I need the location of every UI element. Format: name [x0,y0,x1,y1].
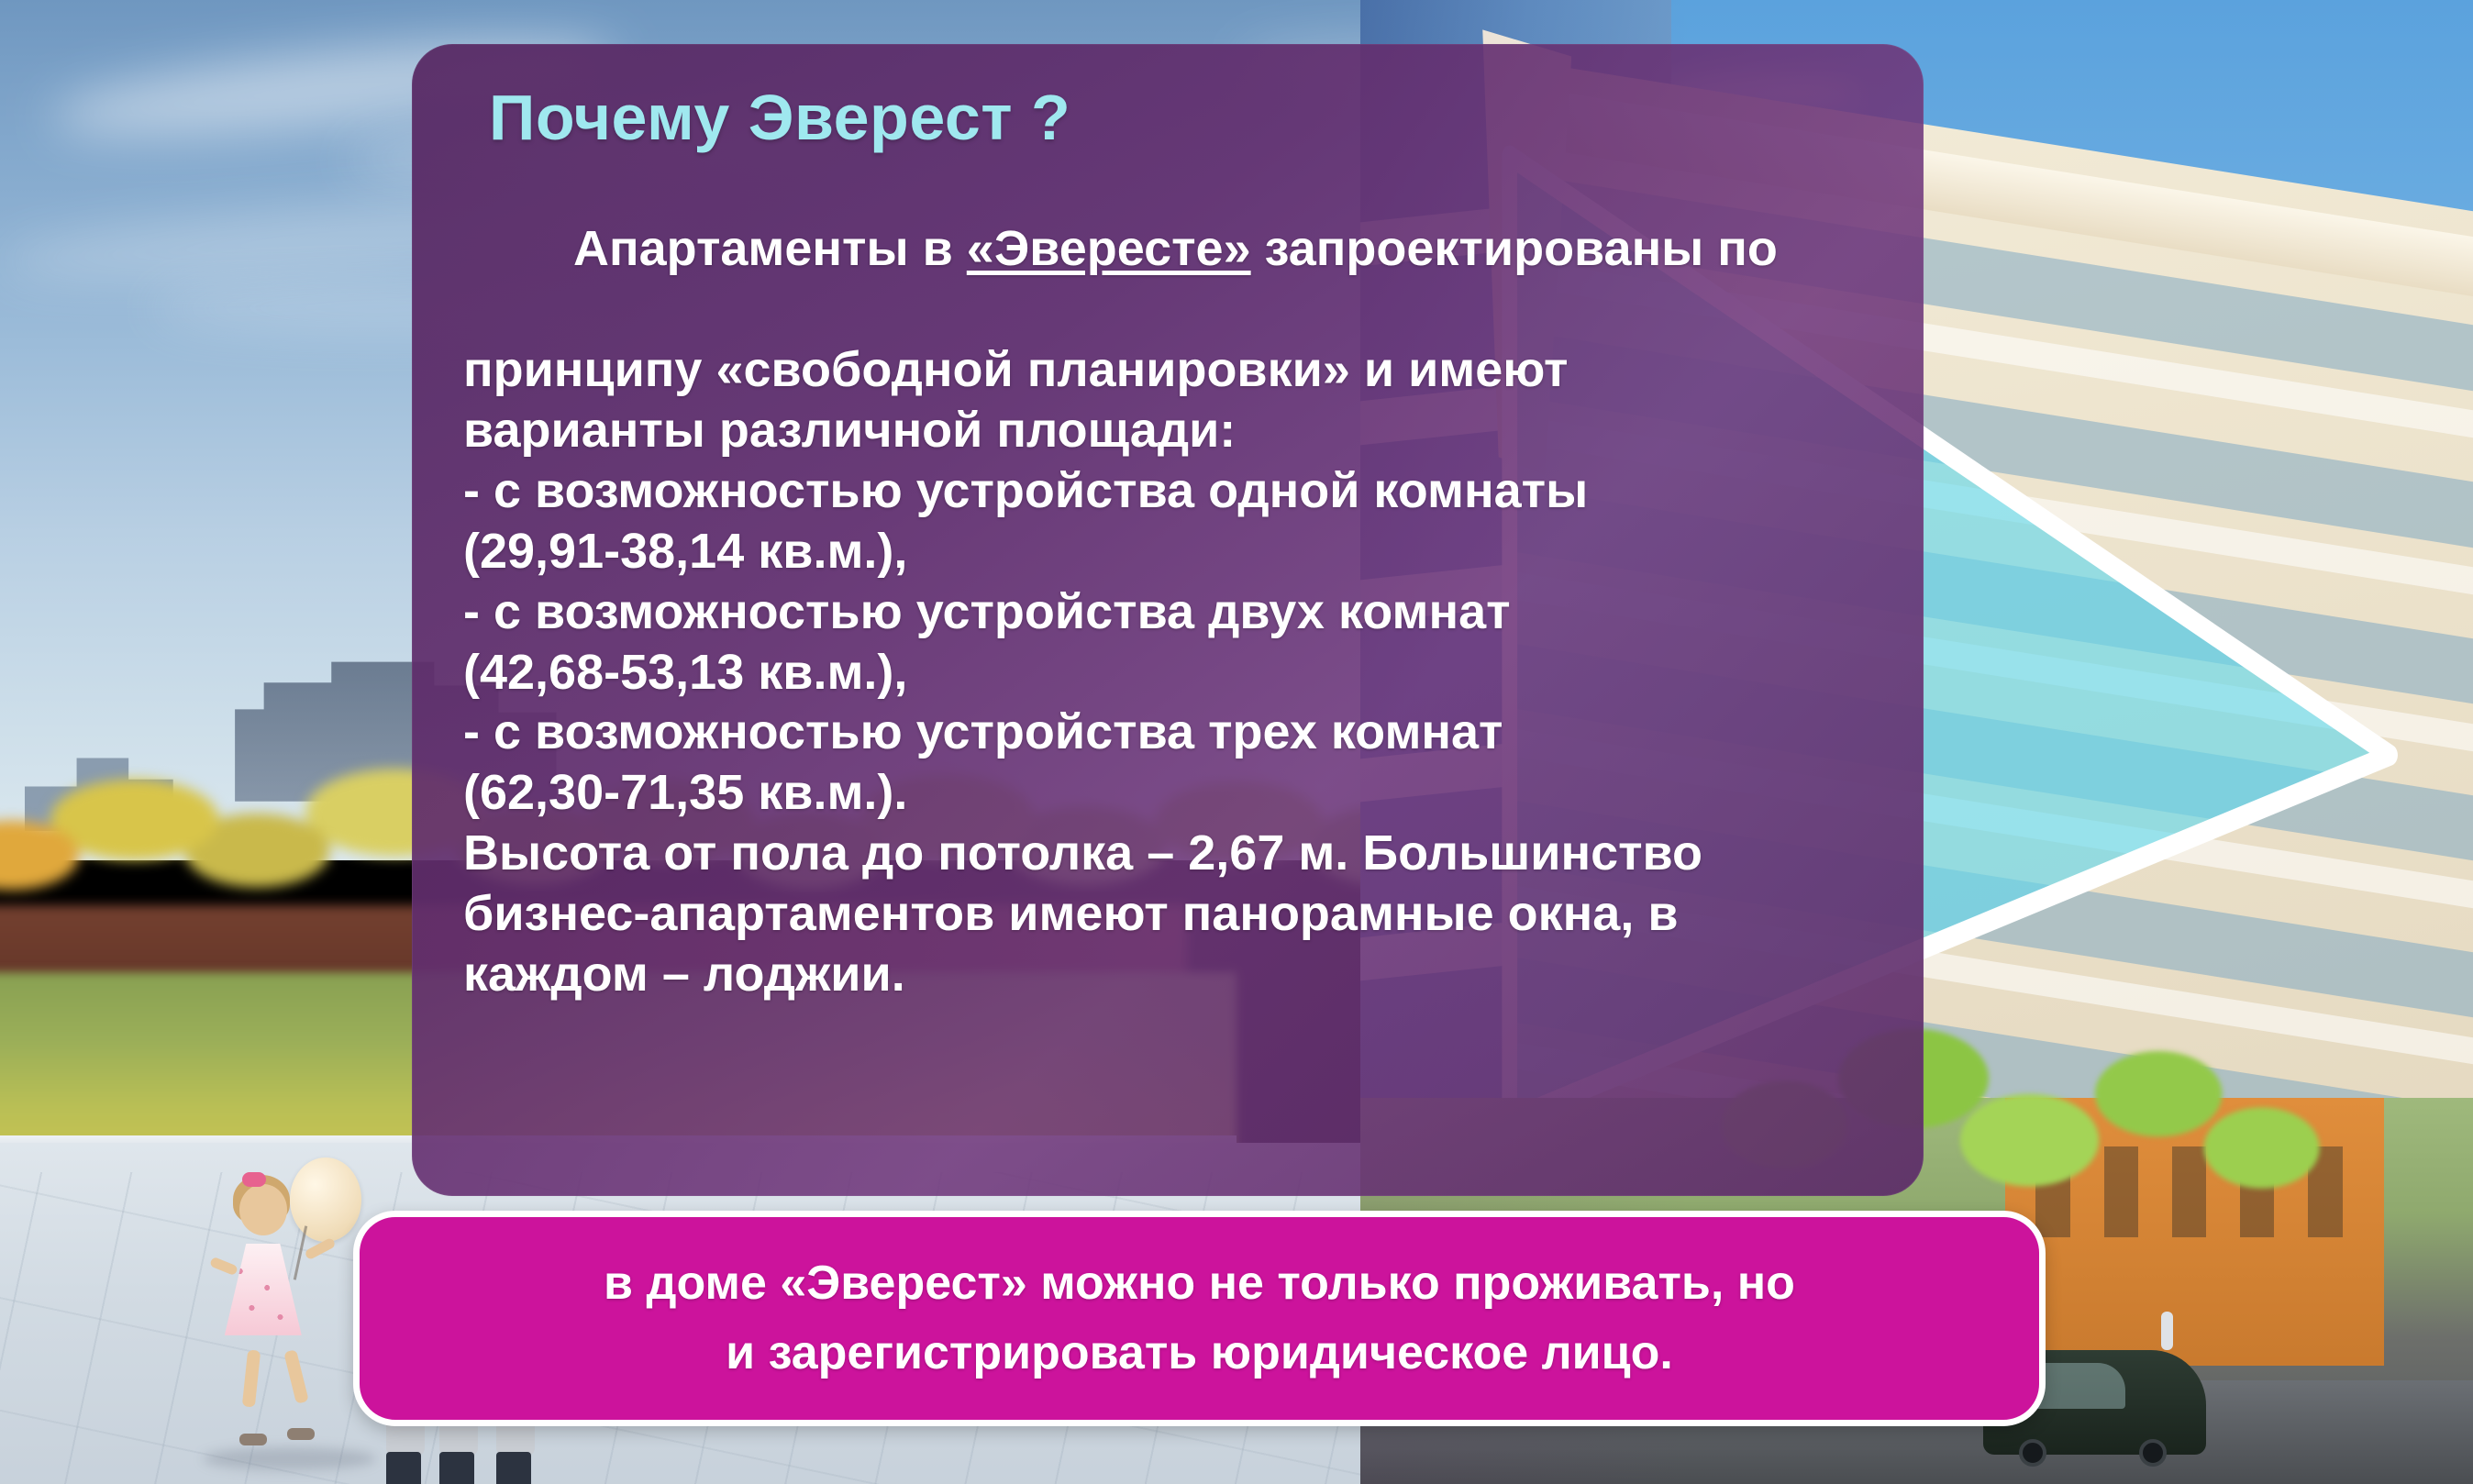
girl-with-balloon [213,1172,361,1469]
girl-head [239,1184,287,1235]
balloon-icon [290,1157,361,1242]
pedestrian-legs [439,1452,474,1484]
body-line-2: принципу «свободной планировки» и имеют [463,340,1872,401]
content-panel: Почему Эверест ? Апартаменты в «Эвересте… [412,44,1924,1196]
girl-leg-right [283,1350,309,1405]
page-title: Почему Эверест ? [489,84,1872,152]
banner-line-2: и зарегистрировать юридическое лицо. [689,1327,1710,1379]
body-line-3: варианты различной площади: [463,401,1872,461]
pedestrian-legs [496,1452,531,1484]
body-line-1-suffix: запроектированы по [1251,221,1778,276]
everest-quoted-underlined: «Эвересте» [967,221,1251,276]
girl-dress-pattern [225,1244,302,1335]
pedestrian [2161,1312,2173,1350]
body-line-11: бизнес-апартаментов имеют панорамные окн… [463,884,1872,945]
girl-shoe-right [287,1428,315,1440]
body-line-8: - с возможностью устройства трех комнат [463,703,1872,763]
panel-body-text: Апартаменты в «Эвересте» запроектированы… [463,160,1872,1005]
body-line-4: - с возможностью устройства одной комнат… [463,461,1872,522]
girl-arm-left [209,1257,238,1276]
body-line-9: (62,30-71,35 кв.м.). [463,763,1872,824]
girl-hair-bow [242,1172,266,1187]
body-line-7: (42,68-53,13 кв.м.), [463,643,1872,703]
body-line-1: Апартаменты в «Эвересте» запроектированы… [463,160,1872,341]
body-line-12: каждом – лоджии. [463,945,1872,1005]
body-line-6: - с возможностью устройства двух комнат [463,582,1872,643]
body-line-1-prefix: Апартаменты в [573,221,967,276]
body-line-5: (29,91-38,14 кв.м.), [463,522,1872,582]
girl-shoe-left [239,1434,267,1445]
girl-leg-left [242,1350,261,1408]
pedestrian-legs [386,1452,421,1484]
banner-line-1: в доме «Эверест» можно не только прожива… [567,1257,1832,1310]
presentation-slide: Почему Эверест ? Апартаменты в «Эвересте… [0,0,2473,1484]
callout-banner: в доме «Эверест» можно не только прожива… [353,1211,2046,1426]
body-line-10: Высота от пола до потолка – 2,67 м. Боль… [463,824,1872,884]
